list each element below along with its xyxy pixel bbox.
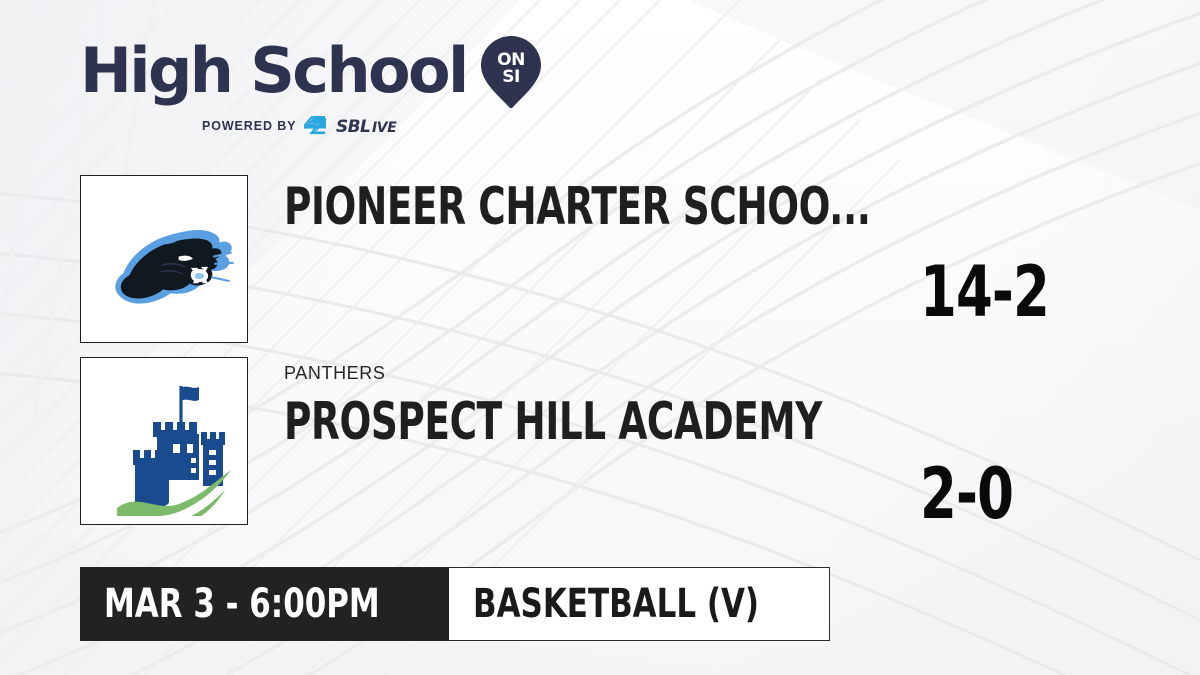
game-sport-label: BASKETBALL (V) [473,584,759,624]
powered-by-label: POWERED BY [202,119,296,133]
brand-title: High School [80,42,467,101]
panther-head-logo [89,184,239,334]
game-sport-chip[interactable]: BASKETBALL (V) [449,567,831,641]
team-logo-box-home [80,357,248,525]
on-si-map-pin-icon: ON SI [479,34,543,110]
brand-header: High School ON SI POWERED BY SBL IVE SBL… [80,32,543,136]
team-mascot-away: PANTHERS [284,363,944,384]
game-info-bar: MAR 3 - 6:00PM BASKETBALL (V) [80,567,830,641]
powered-by-row: POWERED BY SBL IVE SBLive [202,116,543,136]
svg-text:SI: SI [502,67,520,87]
svg-text:IVE: IVE [372,120,397,136]
team-logo-box-away [80,175,248,343]
svg-text:SBL: SBL [336,117,370,136]
team-name-home: PROSPECT HILL ACADEMY [284,396,812,448]
game-datetime-label: MAR 3 - 6:00PM [104,584,380,624]
team-row-away[interactable]: PIONEER CHARTER SCHOO... [80,175,944,343]
team-text-home: PANTHERS PROSPECT HILL ACADEMY [284,357,944,448]
team-record-home: 2-0 [920,459,1013,529]
sblive-s-icon [304,116,328,136]
game-datetime-chip[interactable]: MAR 3 - 6:00PM [80,567,449,641]
row-spacer [80,343,944,357]
brand-logo-row: High School ON SI [80,32,543,110]
sblive-wordmark-icon: SBL IVE [336,116,430,136]
castle-tower-logo [89,366,239,516]
team-name-away: PIONEER CHARTER SCHOO... [284,181,812,233]
team-record-away: 14-2 [920,257,1049,327]
team-row-home[interactable]: PANTHERS PROSPECT HILL ACADEMY [80,357,944,525]
team-text-away: PIONEER CHARTER SCHOO... [284,175,944,233]
matchup-block: PIONEER CHARTER SCHOO... [80,175,944,525]
game-preview-graphic: High School ON SI POWERED BY SBL IVE SBL… [0,0,1200,675]
